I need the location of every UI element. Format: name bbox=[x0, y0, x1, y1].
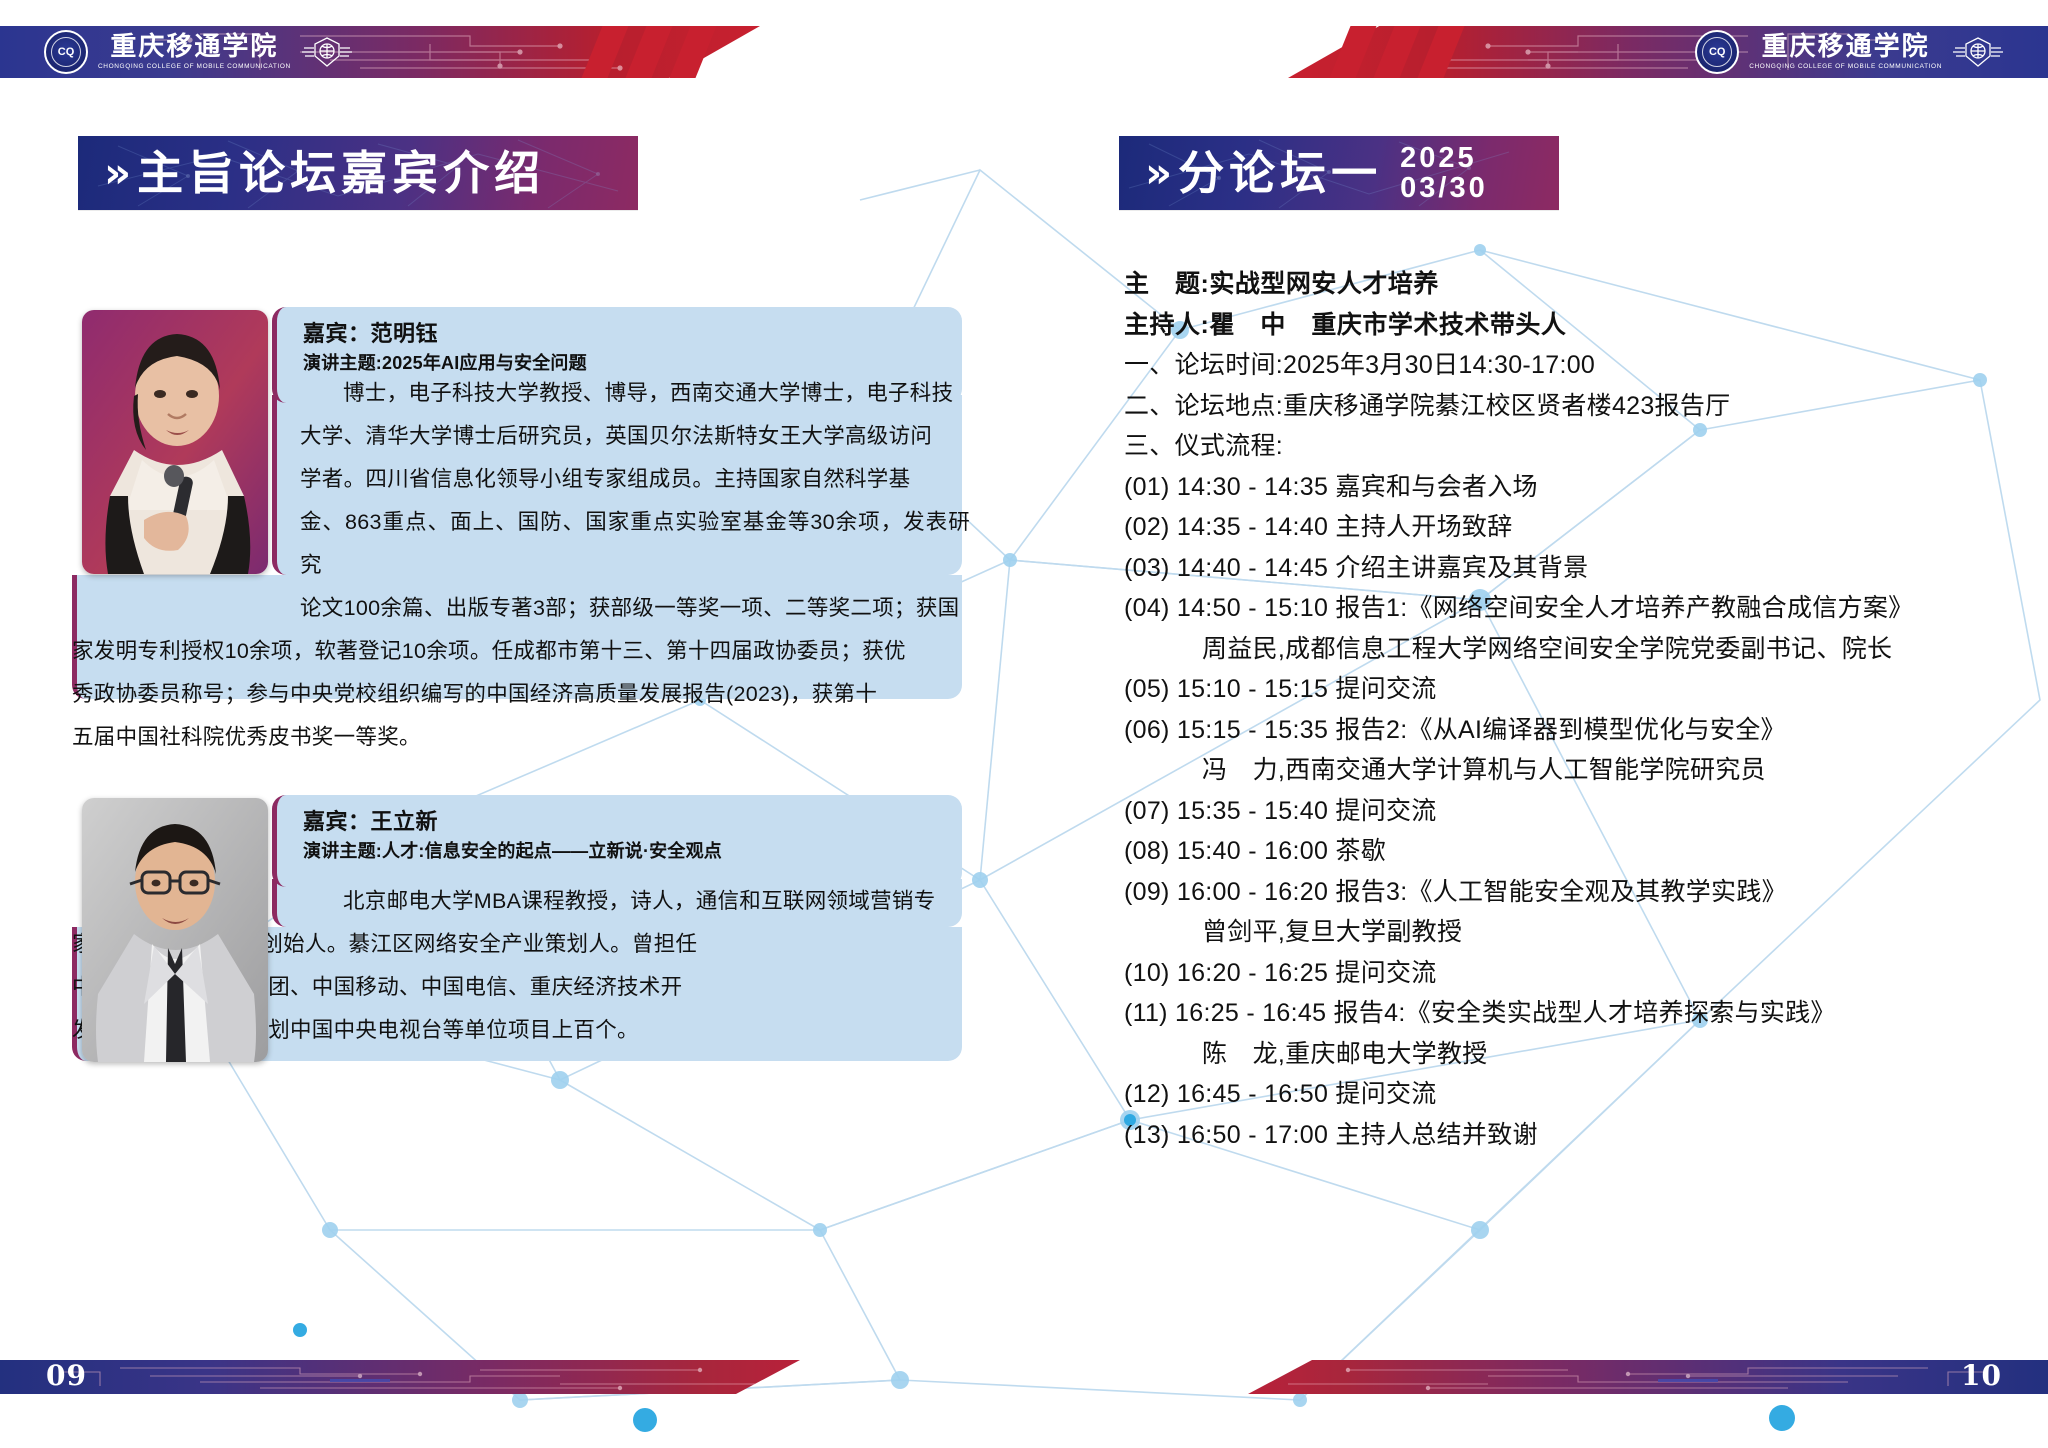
forum-program: 主 题:实战型网安人才培养 主持人:瞿 中 重庆市学术技术带头人 一、论坛时间:… bbox=[1124, 264, 1984, 1155]
guest-1-bio-line-8: 五届中国社科院优秀皮书奖一等奖。 bbox=[72, 716, 970, 759]
guest-1-name: 嘉宾：范明钰 bbox=[303, 320, 962, 348]
brand-lockup-right: CQ 重庆移通学院 CHONGQING COLLEGE OF MOBILE CO… bbox=[1695, 26, 2004, 78]
agenda-item-speaker: 周益民,成都信息工程大学网络空间安全学院党委副书记、院长 bbox=[1124, 629, 1984, 670]
agenda-item: (04) 14:50 - 15:10 报告1:《网络空间安全人才培养产教融合成信… bbox=[1124, 588, 1984, 629]
forum-date: 2025 03/30 bbox=[1400, 143, 1488, 204]
guest-1-bio-line-7: 秀政协委员称号；参与中央党校组织编写的中国经济高质量发展报告(2023)，获第十 bbox=[72, 673, 970, 716]
seal-text: CQ bbox=[58, 47, 75, 58]
winged-globe-icon-right bbox=[1952, 35, 2004, 69]
brand-lockup-left: CQ 重庆移通学院 CHONGQING COLLEGE OF MOBILE CO… bbox=[44, 26, 353, 78]
guest-2-bio-line-1: 北京邮电大学MBA课程教授，诗人，通信和互联网领域营销专 bbox=[300, 880, 970, 923]
forum-date-year: 2025 bbox=[1400, 143, 1488, 173]
guest-2-name: 嘉宾：王立新 bbox=[303, 808, 962, 836]
school-seal-icon: CQ bbox=[44, 30, 88, 74]
guest-1-bio: 博士，电子科技大学教授、博导，西南交通大学博士，电子科技 大学、清华大学博士后研… bbox=[300, 372, 970, 759]
agenda-item: (13) 16:50 - 17:00 主持人总结并致谢 bbox=[1124, 1115, 1984, 1156]
footer-circuit-icon-right bbox=[1248, 1360, 2048, 1394]
org-name-en-right: CHONGQING COLLEGE OF MOBILE COMMUNICATIO… bbox=[1749, 63, 1942, 70]
guest-1-portrait bbox=[82, 310, 268, 574]
forum-date-day: 03/30 bbox=[1400, 173, 1488, 203]
agenda-item: (11) 16:25 - 16:45 报告4:《安全类实战型人才培养探索与实践》 bbox=[1124, 993, 1984, 1034]
guest-2-topic: 演讲主题:人才:信息安全的起点——立新说·安全观点 bbox=[303, 840, 962, 863]
guest-1-bio-line-2: 大学、清华大学博士后研究员，英国贝尔法斯特女王大学高级访问 bbox=[300, 415, 970, 458]
guest-card-2: 嘉宾：王立新 演讲主题:人才:信息安全的起点——立新说·安全观点 bbox=[272, 795, 962, 887]
org-name-en: CHONGQING COLLEGE OF MOBILE COMMUNICATIO… bbox=[98, 63, 291, 70]
agenda-item: (03) 14:40 - 14:45 介绍主讲嘉宾及其背景 bbox=[1124, 548, 1984, 589]
agenda-item: (09) 16:00 - 16:20 报告3:《人工智能安全观及其教学实践》 bbox=[1124, 872, 1984, 913]
seal-text-right: CQ bbox=[1709, 47, 1726, 58]
agenda-item-speaker: 曾剑平,复旦大学副教授 bbox=[1124, 912, 1984, 953]
guest-1-bio-line-1: 博士，电子科技大学教授、博导，西南交通大学博士，电子科技 bbox=[300, 372, 970, 415]
footer-bar-left bbox=[0, 1360, 800, 1394]
forum-theme: 主 题:实战型网安人才培养 bbox=[1124, 264, 1984, 305]
agenda-item: (01) 14:30 - 14:35 嘉宾和与会者入场 bbox=[1124, 467, 1984, 508]
agenda-item: (08) 15:40 - 16:00 茶歇 bbox=[1124, 831, 1984, 872]
brochure-page: CQ 重庆移通学院 CHONGQING COLLEGE OF MOBILE CO… bbox=[0, 0, 2048, 1448]
forum-time: 一、论坛时间:2025年3月30日14:30-17:00 bbox=[1124, 345, 1984, 386]
footer-bar-right bbox=[1248, 1360, 2048, 1394]
section-banner-left: » 主旨论坛嘉宾介绍 bbox=[78, 136, 638, 210]
right-section-title: 分论坛一 bbox=[1178, 150, 1382, 196]
agenda-item-speaker: 陈 龙,重庆邮电大学教授 bbox=[1124, 1034, 1984, 1075]
guest-2-bio: 北京邮电大学MBA课程教授，诗人，通信和互联网领域营销专 家，自媒体“立新说”创… bbox=[300, 880, 970, 1052]
left-section-title: 主旨论坛嘉宾介绍 bbox=[137, 150, 545, 196]
chevron-double-right-icon: » bbox=[104, 152, 125, 194]
agenda-item: (02) 14:35 - 14:40 主持人开场致辞 bbox=[1124, 507, 1984, 548]
section-banner-right: » 分论坛一 2025 03/30 bbox=[1119, 136, 1559, 210]
agenda-item: (12) 16:45 - 16:50 提问交流 bbox=[1124, 1074, 1984, 1115]
guest-2-portrait bbox=[82, 798, 268, 1062]
forum-host: 主持人:瞿 中 重庆市学术技术带头人 bbox=[1124, 305, 1984, 346]
org-name-cn: 重庆移通学院 bbox=[110, 34, 278, 60]
guest-1-bio-line-6: 家发明专利授权10余项，软著登记10余项。任成都市第十三、第十四届政协委员；获优 bbox=[72, 630, 970, 673]
forum-place: 二、论坛地点:重庆移通学院綦江校区贤者楼423报告厅 bbox=[1124, 386, 1984, 427]
agenda-item-speaker: 冯 力,西南交通大学计算机与人工智能学院研究员 bbox=[1124, 750, 1984, 791]
page-number-right: 10 bbox=[1961, 1359, 2002, 1392]
agenda-item: (05) 15:10 - 15:15 提问交流 bbox=[1124, 669, 1984, 710]
school-seal-icon-right: CQ bbox=[1695, 30, 1739, 74]
winged-globe-icon bbox=[301, 35, 353, 69]
forum-agenda-heading: 三、仪式流程: bbox=[1124, 426, 1984, 467]
agenda-item: (10) 16:20 - 16:25 提问交流 bbox=[1124, 953, 1984, 994]
org-name-cn-right: 重庆移通学院 bbox=[1762, 34, 1930, 60]
footer-circuit-icon bbox=[0, 1360, 800, 1394]
guest-1-bio-line-3: 学者。四川省信息化领导小组专家组成员。主持国家自然科学基 bbox=[300, 458, 970, 501]
agenda-item: (07) 15:35 - 15:40 提问交流 bbox=[1124, 791, 1984, 832]
agenda-item: (06) 15:15 - 15:35 报告2:《从AI编译器到模型优化与安全》 bbox=[1124, 710, 1984, 751]
chevron-double-right-icon-right: » bbox=[1145, 152, 1166, 194]
guest-1-bio-line-5: 论文100余篇、出版专著3部；获部级一等奖一项、二等奖二项；获国 bbox=[300, 587, 970, 630]
page-number-left: 09 bbox=[46, 1359, 87, 1392]
guest-1-bio-line-4: 金、863重点、面上、国防、国家重点实验室基金等30余项，发表研究 bbox=[300, 501, 970, 587]
